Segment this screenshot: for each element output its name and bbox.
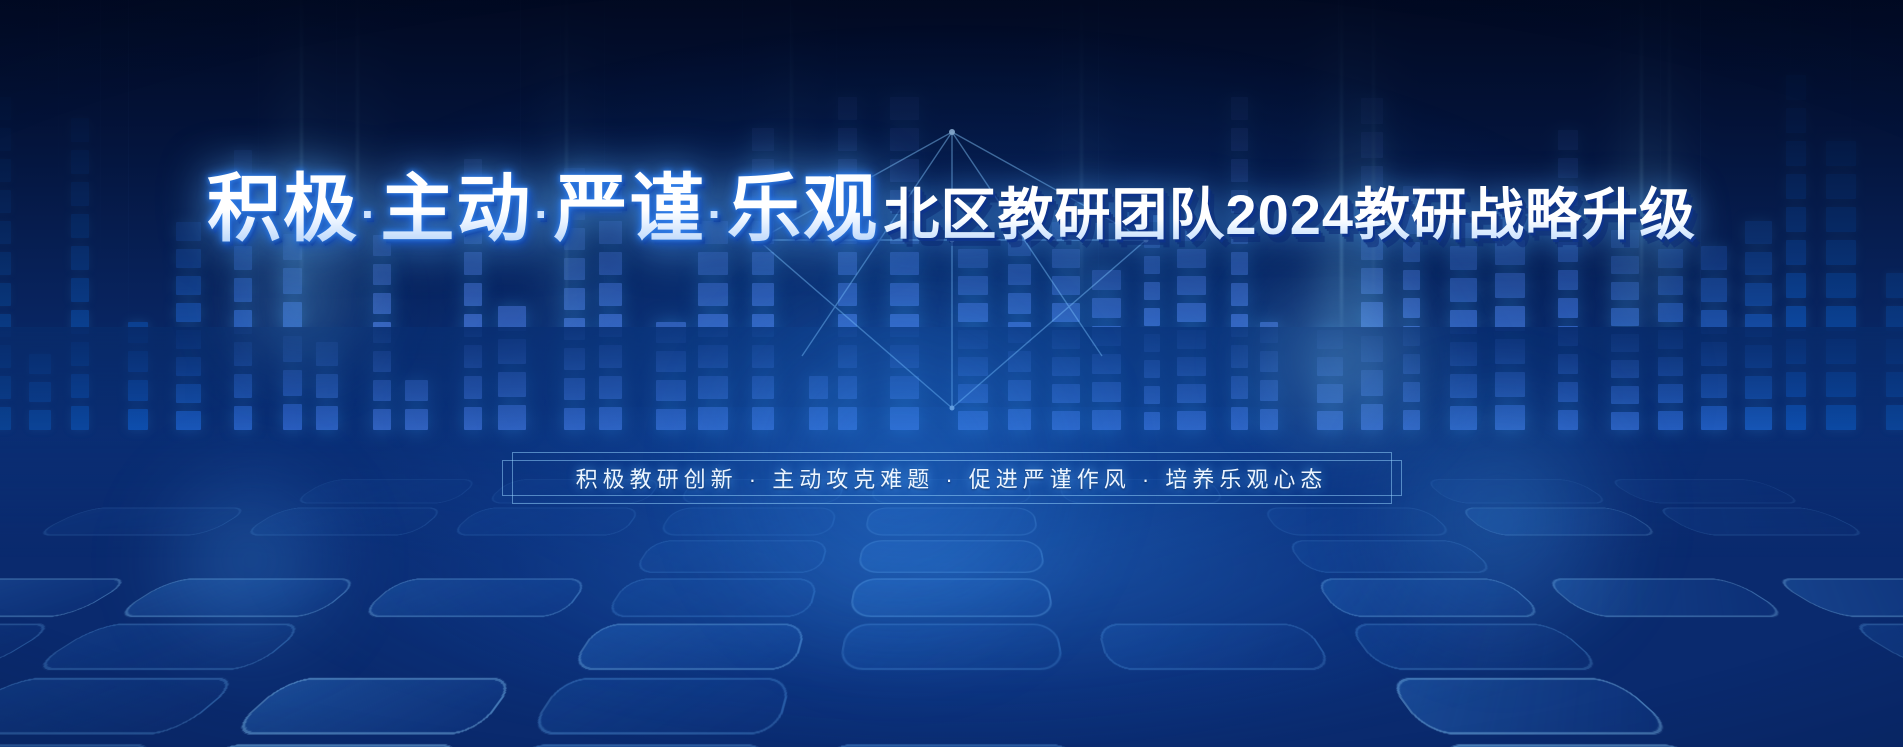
title-separator-1: · bbox=[359, 188, 380, 240]
page-title-line2: 北区教研团队2024教研战略升级 bbox=[883, 180, 1696, 250]
title-part-1: 积极 bbox=[207, 167, 359, 250]
title-part-3: 严谨 bbox=[554, 167, 706, 250]
title-block: 积极·主动·严谨·乐观 北区教研团队2024教研战略升级 bbox=[0, 166, 1903, 257]
banner-root: 积极·主动·严谨·乐观 北区教研团队2024教研战略升级 积极教研创新 · 主动… bbox=[0, 0, 1903, 747]
title-part-4: 乐观 bbox=[727, 167, 879, 250]
subtitle-bar: 积极教研创新 · 主动攻克难题 · 促进严谨作风 · 培养乐观心态 bbox=[0, 452, 1903, 504]
title-part-2: 主动 bbox=[380, 167, 532, 250]
page-title-line1: 积极·主动·严谨·乐观 bbox=[207, 166, 879, 257]
title-separator-2: · bbox=[532, 188, 553, 240]
title-separator-3: · bbox=[706, 188, 727, 240]
subtitle-text: 积极教研创新 · 主动攻克难题 · 促进严谨作风 · 培养乐观心态 bbox=[576, 462, 1328, 494]
subtitle-frame: 积极教研创新 · 主动攻克难题 · 促进严谨作风 · 培养乐观心态 bbox=[502, 452, 1402, 504]
background-glow-spot bbox=[1235, 250, 1455, 470]
